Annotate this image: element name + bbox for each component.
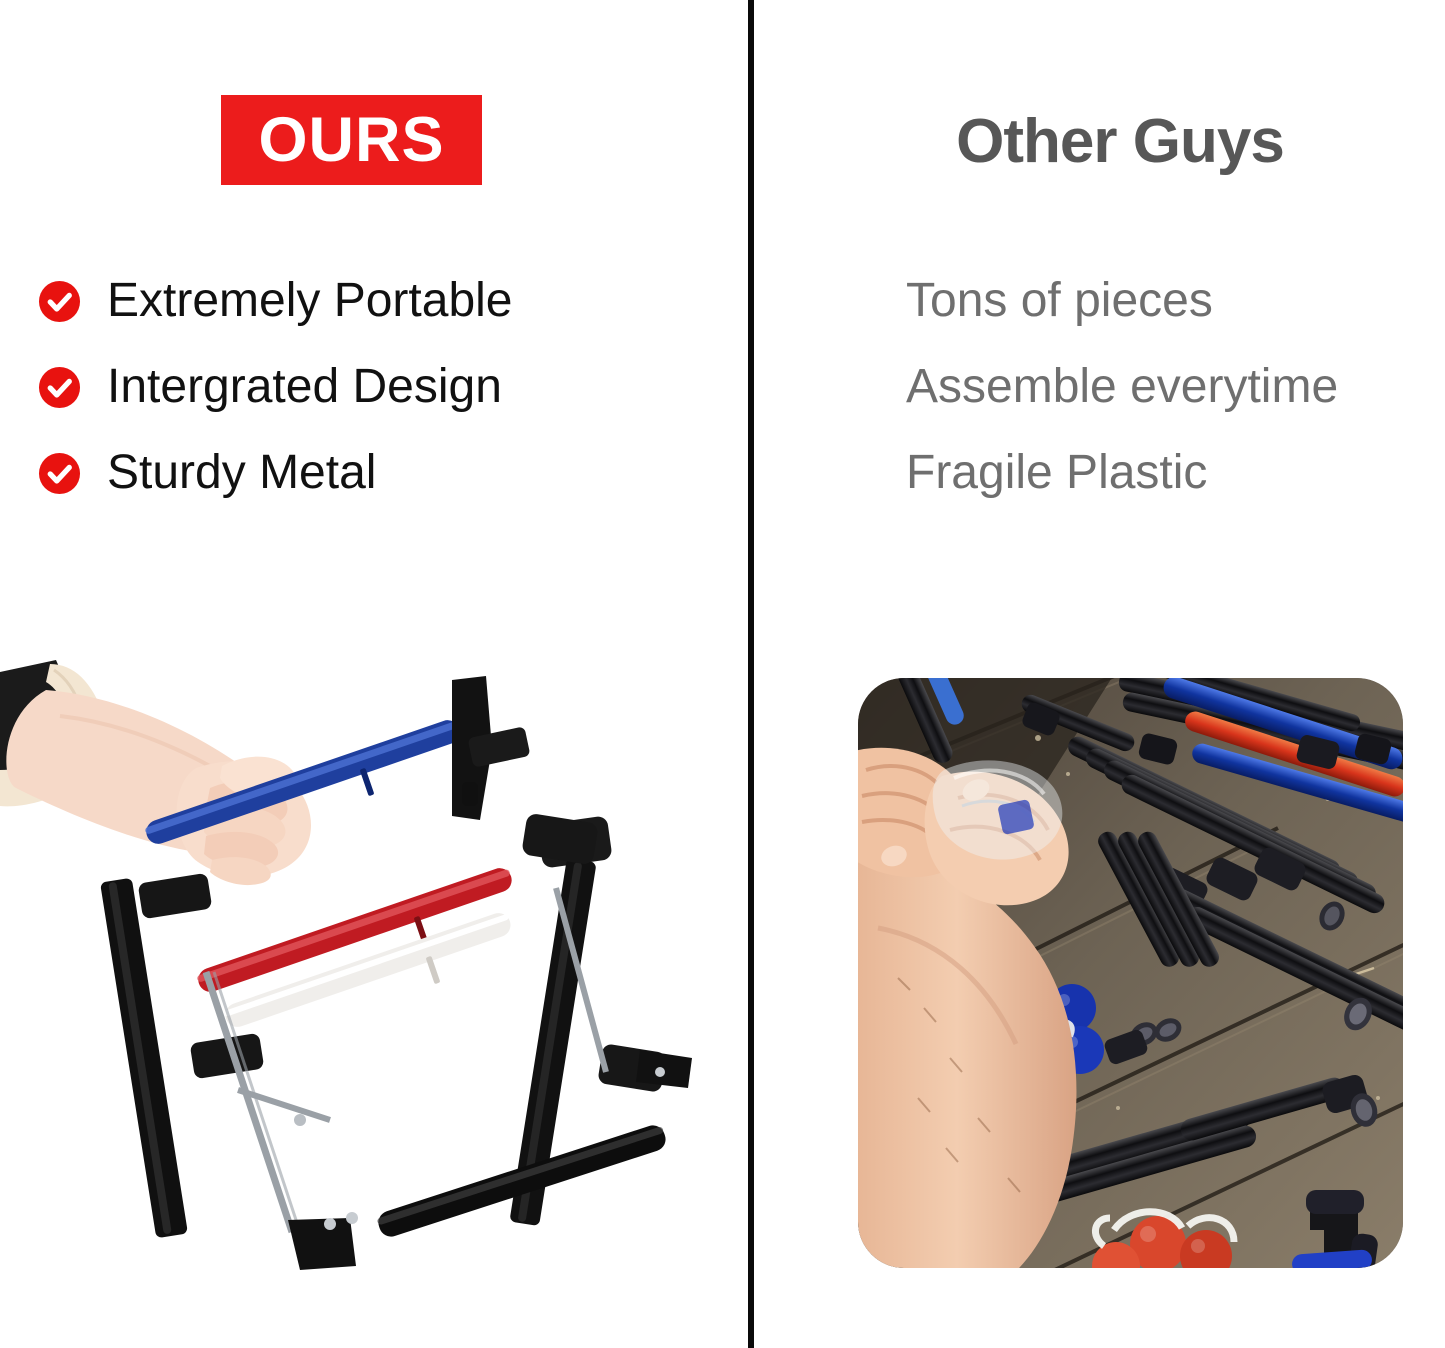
other-feature-item-2: Fragile Plastic — [906, 444, 1445, 502]
ours-feature-item-0: Extremely Portable — [38, 272, 728, 330]
ours-feature-list: Extremely Portable Intergrated Design — [38, 272, 728, 530]
check-circle-icon — [38, 452, 81, 495]
ours-feature-item-2: Sturdy Metal — [38, 444, 728, 502]
other-feature-label: Fragile Plastic — [906, 449, 1207, 497]
other-guys-heading: Other Guys — [920, 108, 1320, 176]
check-circle-icon — [38, 280, 81, 323]
panel-ours: OURS Extremely Portable — [0, 0, 748, 1348]
ours-badge: OURS — [221, 95, 482, 185]
ours-feature-label: Intergrated Design — [107, 363, 502, 411]
check-circle-icon — [38, 366, 81, 409]
ours-badge-label: OURS — [258, 109, 444, 172]
ours-product-photo — [0, 620, 740, 1320]
other-feature-label: Tons of pieces — [906, 277, 1213, 325]
other-feature-label: Assemble everytime — [906, 363, 1338, 411]
other-guys-photo — [858, 678, 1403, 1268]
panel-other-guys: Other Guys Tons of pieces Assemble every… — [754, 0, 1445, 1348]
other-feature-item-1: Assemble everytime — [906, 358, 1445, 416]
other-feature-item-0: Tons of pieces — [906, 272, 1445, 330]
ours-feature-label: Extremely Portable — [107, 277, 513, 325]
ours-feature-item-1: Intergrated Design — [38, 358, 728, 416]
ours-feature-label: Sturdy Metal — [107, 449, 376, 497]
comparison-infographic: OURS Extremely Portable — [0, 0, 1445, 1348]
other-feature-list: Tons of pieces Assemble everytime Fragil… — [906, 272, 1445, 530]
